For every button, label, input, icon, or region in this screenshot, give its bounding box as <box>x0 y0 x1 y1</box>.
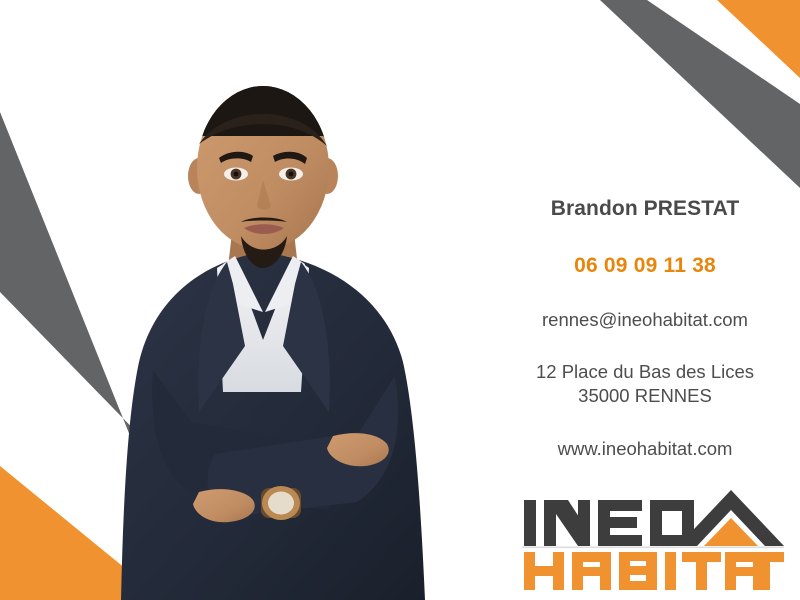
portrait-illustration <box>95 40 525 600</box>
wristwatch <box>261 486 301 520</box>
gray-stripe-top-right <box>600 0 800 188</box>
contact-website[interactable]: www.ineohabitat.com <box>495 437 795 460</box>
ineo-habitat-logo[interactable] <box>522 488 784 592</box>
contact-phone[interactable]: 06 09 09 11 38 <box>495 253 795 278</box>
logo-word-habitat <box>524 552 784 590</box>
contact-email[interactable]: rennes@ineohabitat.com <box>495 308 795 331</box>
address-line-1: 12 Place du Bas des Lices <box>495 360 795 385</box>
portrait-photo <box>95 40 525 600</box>
logo-divider <box>522 547 784 549</box>
logo-artwork <box>522 488 784 592</box>
contact-details: Brandon PRESTAT 06 09 09 11 38 rennes@in… <box>495 196 795 461</box>
logo-word-ineo <box>524 500 694 546</box>
address-line-2: 35000 RENNES <box>495 384 795 409</box>
contact-name: Brandon PRESTAT <box>495 196 795 221</box>
contact-address: 12 Place du Bas des Lices 35000 RENNES <box>495 360 795 410</box>
orange-corner-top-right <box>717 0 800 78</box>
business-card: Brandon PRESTAT 06 09 09 11 38 rennes@in… <box>0 0 800 600</box>
